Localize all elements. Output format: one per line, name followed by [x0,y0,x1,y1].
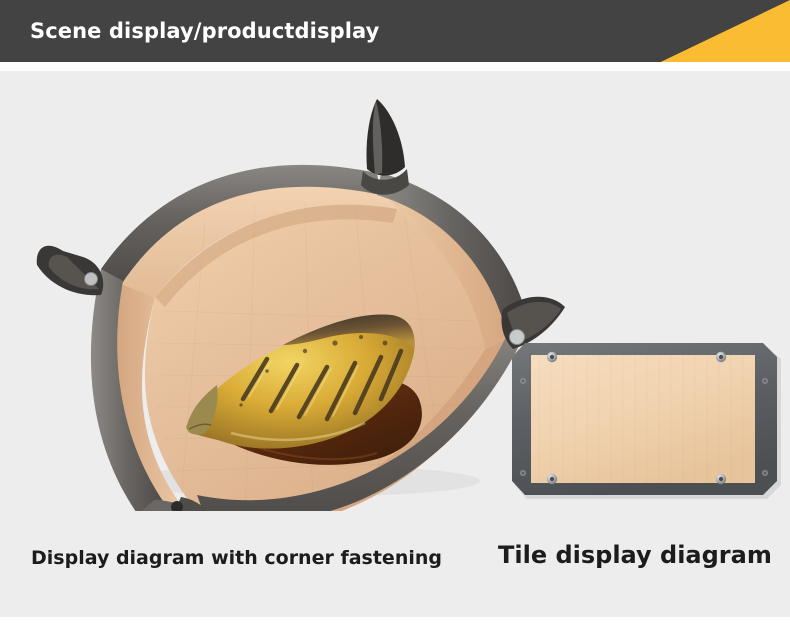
grommet-bottom-left [547,474,557,484]
corner-fastener-left [37,246,104,296]
rivet-left-upper [520,378,526,384]
corner-fastener-top [361,99,409,195]
tile-mat-photo [505,333,790,513]
caption-right: Tile display diagram [498,541,772,569]
tray-illustration [5,81,585,511]
rivet-right-upper [762,378,768,384]
product-display-page: Scene display/productdisplay [0,0,790,635]
corner-fastened-tray-photo [5,81,585,511]
caption-left: Display diagram with corner fastening [31,547,442,569]
header-accent-wedge [590,0,790,62]
page-title: Scene display/productdisplay [30,0,379,62]
tile-mat-surface [531,355,755,483]
grommet-top-left [547,352,557,362]
grommet-top-right [716,352,726,362]
tile-illustration [505,333,790,513]
rivet-right-lower [762,470,768,476]
rivet-left-lower [520,470,526,476]
grommet-bottom-right [716,474,726,484]
content-panel: Display diagram with corner fastening Ti… [0,71,790,617]
